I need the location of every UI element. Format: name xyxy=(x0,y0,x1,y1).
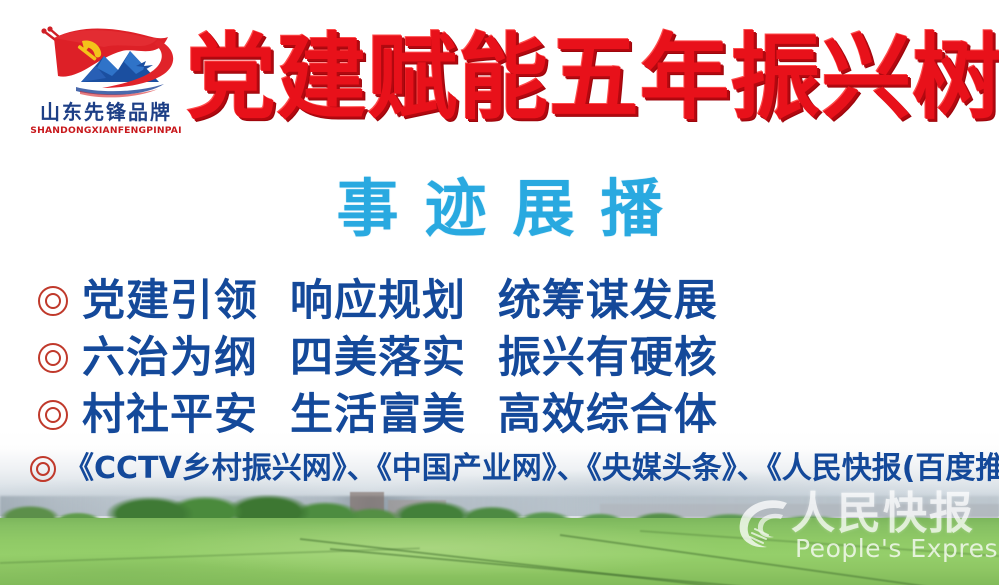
double-circle-bullet-icon xyxy=(30,456,56,482)
media-links-row: 《CCTV乡村振兴网》、《中国产业网》、《央媒头条》、《人民快报(百度推介)》 xyxy=(0,443,999,495)
poster-header: 山东先锋品牌 SHANDONGXIANFENGPINPAI 党建赋能五年振兴树标… xyxy=(0,0,999,150)
slogan-list: 党建引领 响应规划 统筹谋发展 六治为纲 四美落实 振兴有硬核 村社平安 生活富… xyxy=(0,272,999,495)
subtitle: 事迹展播 xyxy=(0,168,999,250)
slogan-row: 村社平安 生活富美 高效综合体 xyxy=(0,386,999,443)
slogan-text: 六治为纲 四美落实 振兴有硬核 xyxy=(82,333,718,383)
poster-root: 山东先锋品牌 SHANDONGXIANFENGPINPAI 党建赋能五年振兴树标… xyxy=(0,0,999,585)
slogan-row: 六治为纲 四美落实 振兴有硬核 xyxy=(0,329,999,386)
slogan-text: 村社平安 生活富美 高效综合体 xyxy=(82,390,718,440)
logo-name-en: SHANDONGXIANFENGPINPAI xyxy=(16,126,196,136)
brand-logo: 山东先锋品牌 SHANDONGXIANFENGPINPAI xyxy=(18,18,194,142)
slogan-row: 党建引领 响应规划 统筹谋发展 xyxy=(0,272,999,329)
double-circle-bullet-icon xyxy=(38,400,68,430)
media-links-text: 《CCTV乡村振兴网》、《中国产业网》、《央媒头条》、《人民快报(百度推介)》 xyxy=(64,450,999,488)
double-circle-bullet-icon xyxy=(38,343,68,373)
slogan-text: 党建引领 响应规划 统筹谋发展 xyxy=(82,276,718,326)
page-title: 党建赋能五年振兴树标杆 xyxy=(186,23,999,133)
logo-name-cn: 山东先锋品牌 xyxy=(18,100,194,124)
double-circle-bullet-icon xyxy=(38,286,68,316)
party-flag-mountain-icon xyxy=(18,18,194,100)
